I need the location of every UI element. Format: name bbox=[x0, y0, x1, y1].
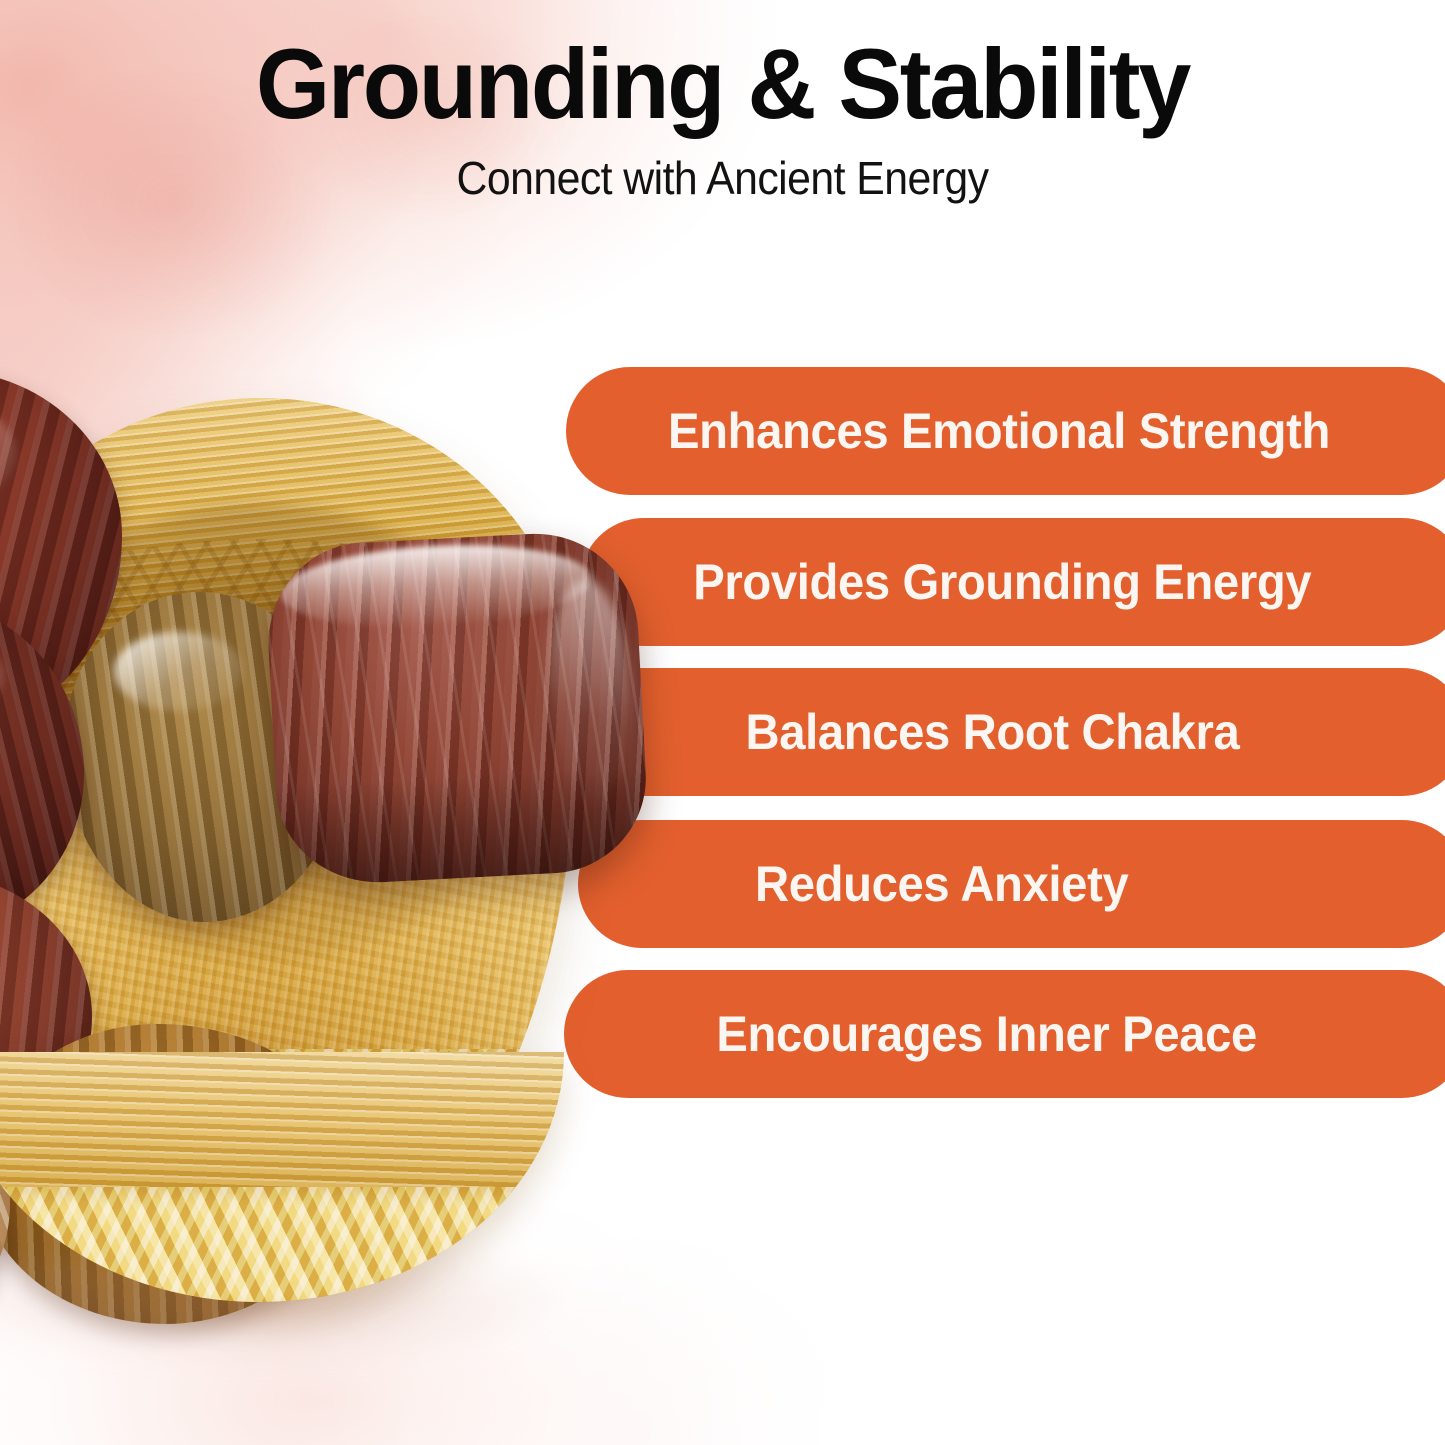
stone-highlight bbox=[114, 632, 243, 711]
benefit-label: Provides Grounding Energy bbox=[604, 553, 1441, 611]
product-photo bbox=[0, 352, 638, 1332]
basket-front-rim bbox=[0, 1052, 564, 1302]
product-infographic: Grounding & Stability Connect with Ancie… bbox=[0, 0, 1445, 1445]
benefit-pill-1[interactable]: Enhances Emotional Strength bbox=[566, 367, 1445, 495]
large-red-banded-jasper-stone bbox=[263, 529, 650, 888]
benefit-label: Reduces Anxiety bbox=[602, 855, 1441, 913]
benefit-label: Enhances Emotional Strength bbox=[591, 402, 1442, 460]
stone-bottom-shadow bbox=[276, 766, 651, 887]
benefit-pill-2[interactable]: Provides Grounding Energy bbox=[580, 518, 1445, 646]
benefit-label: Balances Root Chakra bbox=[527, 703, 1440, 761]
header: Grounding & Stability Connect with Ancie… bbox=[0, 34, 1445, 205]
benefit-pill-4[interactable]: Reduces Anxiety bbox=[578, 820, 1445, 948]
page-title: Grounding & Stability bbox=[25, 34, 1419, 135]
page-subtitle: Connect with Ancient Energy bbox=[51, 151, 1395, 205]
benefit-label: Encourages Inner Peace bbox=[589, 1005, 1441, 1063]
benefit-pill-5[interactable]: Encourages Inner Peace bbox=[564, 970, 1445, 1098]
